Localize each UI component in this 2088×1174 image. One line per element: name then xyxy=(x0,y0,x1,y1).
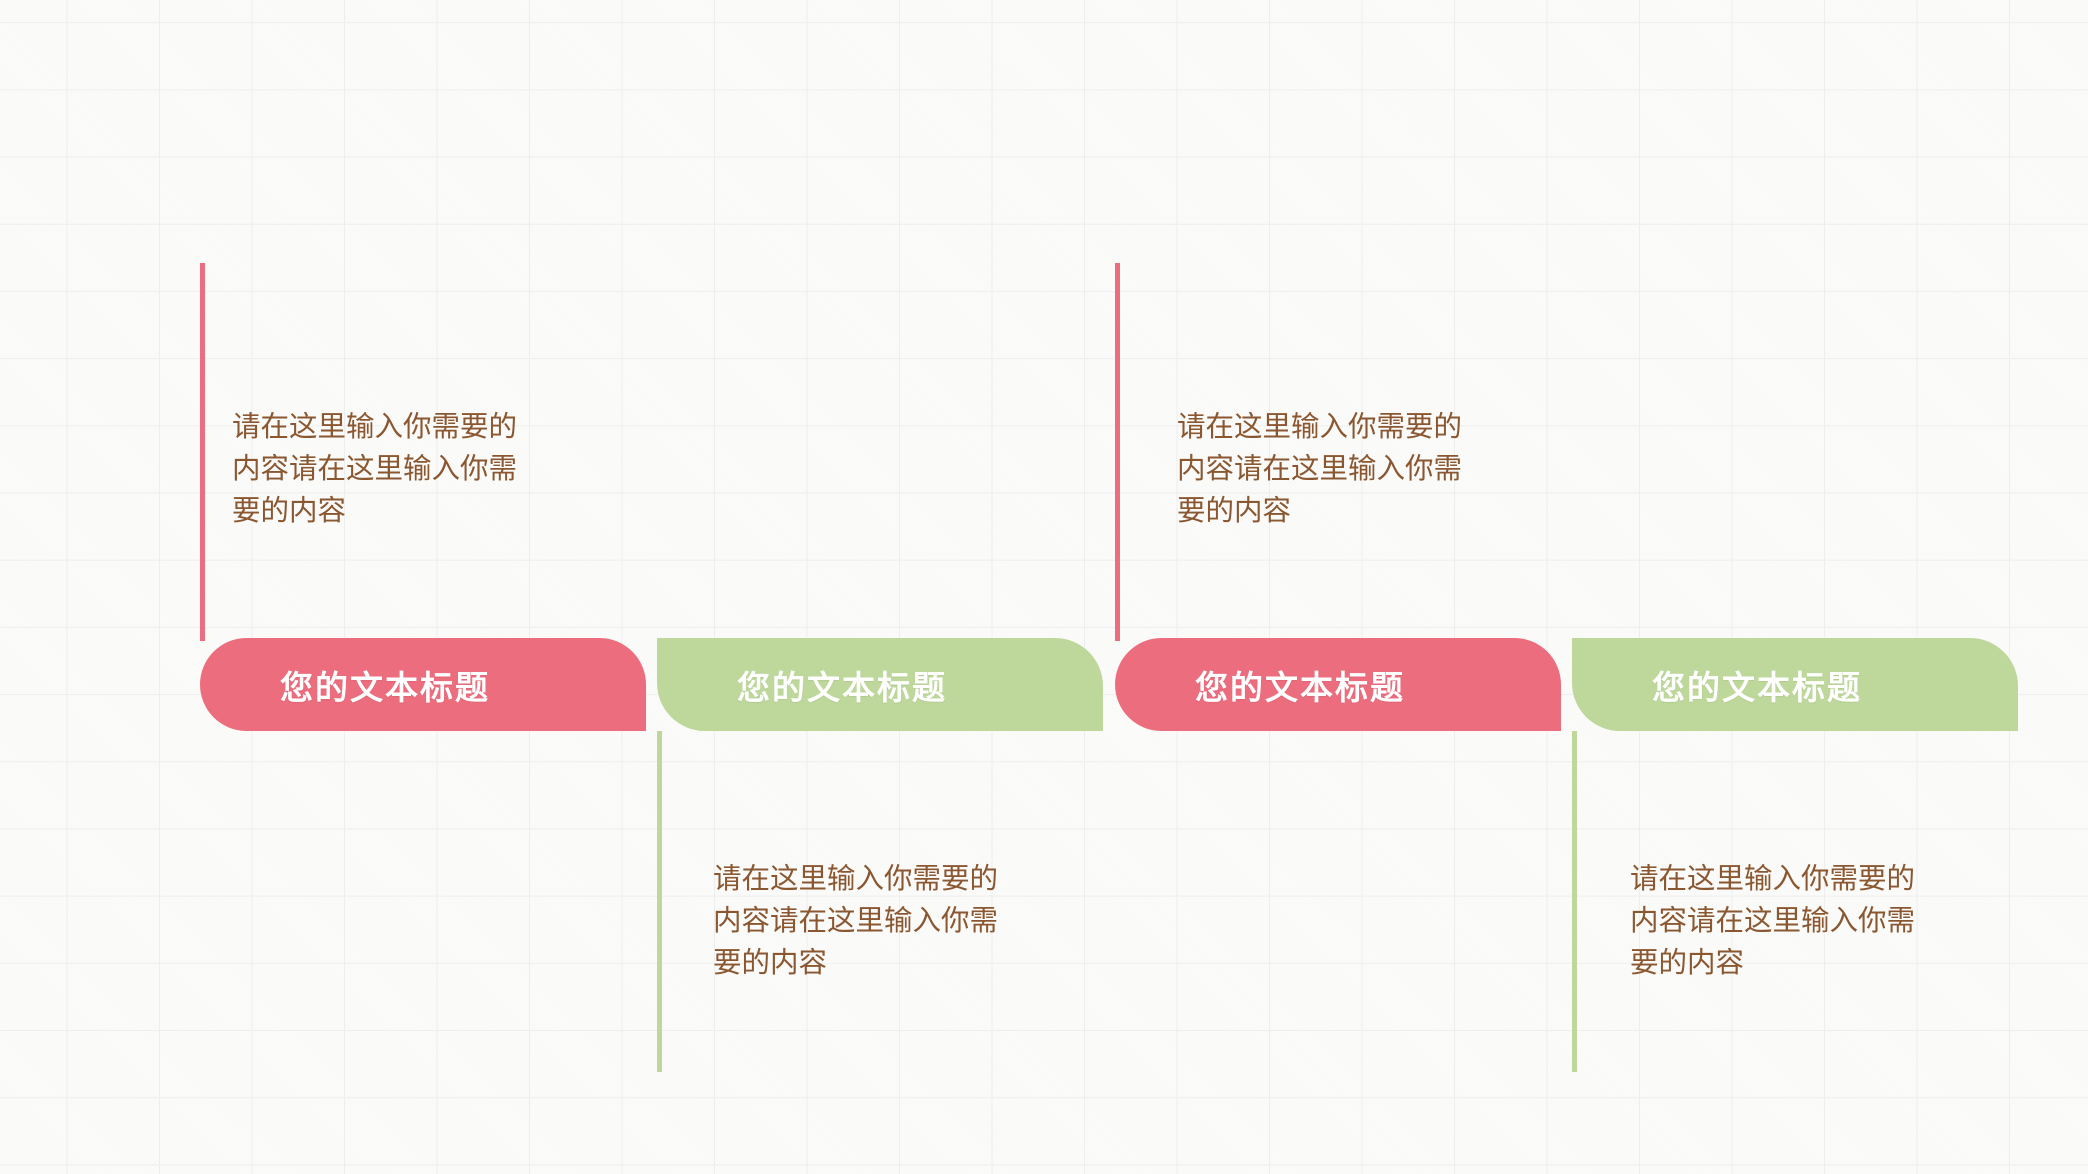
banner-title-2: 您的文本标题 xyxy=(737,661,947,709)
slide-canvas: 请在这里输入你需要的内容请在这里输入你需要的内容 您的文本标题 您的文本标题 请… xyxy=(0,0,2088,1174)
banner-title-1: 您的文本标题 xyxy=(280,661,490,709)
background-grid xyxy=(0,0,2088,1174)
connector-stem-3 xyxy=(1115,263,1120,641)
connector-stem-2 xyxy=(657,731,662,1072)
banner-3[interactable]: 您的文本标题 xyxy=(1115,638,1561,731)
banner-title-3: 您的文本标题 xyxy=(1195,661,1405,709)
banner-1[interactable]: 您的文本标题 xyxy=(200,638,646,731)
body-text-3: 请在这里输入你需要的内容请在这里输入你需要的内容 xyxy=(1177,406,1487,532)
connector-stem-4 xyxy=(1572,731,1577,1072)
connector-stem-1 xyxy=(200,263,205,641)
banner-2[interactable]: 您的文本标题 xyxy=(657,638,1103,731)
banner-title-4: 您的文本标题 xyxy=(1652,661,1862,709)
banner-4[interactable]: 您的文本标题 xyxy=(1572,638,2018,731)
body-text-4: 请在这里输入你需要的内容请在这里输入你需要的内容 xyxy=(1630,858,1940,984)
body-text-1: 请在这里输入你需要的内容请在这里输入你需要的内容 xyxy=(232,406,542,532)
body-text-2: 请在这里输入你需要的内容请在这里输入你需要的内容 xyxy=(713,858,1023,984)
background-texture xyxy=(0,0,2088,1174)
